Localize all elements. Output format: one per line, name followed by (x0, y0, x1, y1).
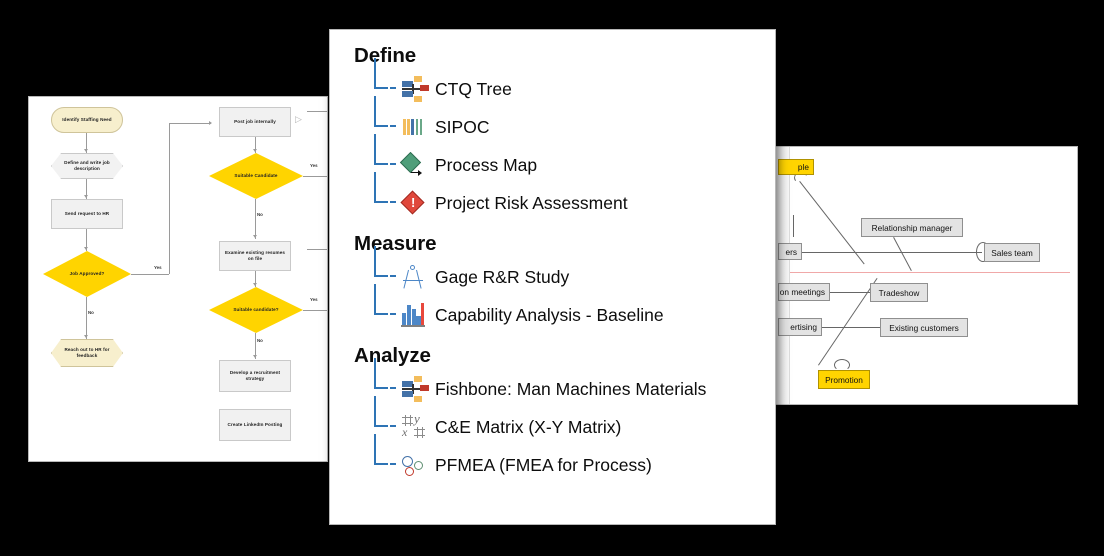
box-label: ertising (790, 322, 817, 332)
page-gutter (776, 147, 790, 404)
fishbone-icon (400, 376, 426, 402)
fishbone-connector-sales (802, 252, 982, 253)
edge-suitable1-yes-h (303, 176, 328, 177)
flowchart-node-define-job-description[interactable]: Define and write job description (51, 153, 123, 179)
arrowhead (84, 195, 88, 198)
flowchart-node-suitable-candidate-decision-2[interactable]: Suitable candidate? (209, 287, 303, 333)
tree-elbow (374, 358, 388, 389)
node-label: Define and write job description (54, 160, 120, 172)
box-label: ple (798, 162, 809, 172)
box-label: Promotion (825, 375, 863, 385)
arrowhead (253, 149, 257, 152)
box-label: ers (785, 247, 797, 257)
ctq-tree-icon (400, 76, 426, 102)
edge-label-no: No (88, 310, 94, 315)
edge-suitable1-yes-top (307, 111, 328, 112)
flowchart-node-examine-existing-resumes[interactable]: Examine existing resumes on file (219, 241, 291, 271)
arrowhead (253, 283, 257, 286)
group-title-measure: Measure (354, 232, 755, 256)
tree-elbow (374, 434, 388, 465)
tool-rows-define: CTQ Tree SIPOC (354, 70, 755, 222)
edge-suitable1-no (255, 199, 256, 239)
tree-elbow (374, 96, 388, 127)
fishbone-connector-existing-customers (822, 327, 880, 328)
flowchart-node-identify-staffing-need[interactable]: Identify Staffing Need (51, 107, 123, 133)
sipoc-bars-icon (400, 114, 426, 140)
edge-suitable2-yes-h (303, 310, 328, 311)
tree-elbow (374, 58, 388, 89)
fishbone-canvas[interactable]: ple Relationship manager ers Sales team … (776, 147, 1077, 404)
tool-item-ce-matrix[interactable]: y x C&E Matrix (X-Y Matrix) (374, 408, 755, 446)
tool-group-analyze: Analyze Fishbone: Man Machines Materia (354, 344, 755, 484)
node-label: Identify Staffing Need (62, 117, 111, 123)
tool-item-project-risk-assessment[interactable]: ! Project Risk Assessment (374, 184, 755, 222)
flowchart-node-reach-out-to-hr[interactable]: Reach out to HR for feedback (51, 339, 123, 367)
node-label: Job Approved? (70, 271, 105, 277)
edge-approved-yes-top (169, 123, 211, 124)
fishbone-document-panel[interactable]: ple Relationship manager ers Sales team … (775, 146, 1078, 405)
edge-label-yes: Yes (310, 297, 318, 302)
tool-rows-analyze: Fishbone: Man Machines Materials (354, 370, 755, 484)
tree-elbow (374, 246, 388, 277)
tree-dash (390, 425, 396, 427)
arrowhead (84, 247, 88, 250)
edge-approved-no (86, 297, 87, 339)
node-label: Create LinkedIn Posting (228, 422, 283, 428)
screenshot-stage: Identify Staffing Need Define and write … (0, 0, 1104, 556)
process-map-diamond-icon (400, 152, 426, 178)
tool-label: C&E Matrix (X-Y Matrix) (435, 417, 621, 438)
fishbone-box-sales-team[interactable]: Sales team (984, 243, 1040, 262)
box-label: Sales team (991, 248, 1033, 258)
flowchart-node-post-job-internally[interactable]: Post job internally (219, 107, 291, 137)
xy-matrix-icon: y x (400, 414, 426, 440)
node-label: Send request to HR (65, 211, 109, 217)
box-label: Relationship manager (872, 223, 953, 233)
fishbone-box-people[interactable]: ple (778, 159, 814, 175)
tool-label: SIPOC (435, 117, 489, 138)
node-label: Examine existing resumes on file (222, 250, 288, 262)
box-label: Existing customers (889, 323, 959, 333)
flowchart-node-create-linkedin-posting[interactable]: Create LinkedIn Posting (219, 409, 291, 441)
tool-item-gage-rr-study[interactable]: Gage R&R Study (374, 258, 755, 296)
fishbone-box-tradeshow[interactable]: Tradeshow (870, 283, 928, 302)
flowchart-document-panel[interactable]: Identify Staffing Need Define and write … (28, 96, 328, 462)
node-label: Develop a recruitment strategy (222, 370, 288, 382)
tree-dash (390, 313, 396, 315)
fishbone-rib-relationship-manager (893, 237, 912, 271)
fishbone-spine (790, 272, 1070, 273)
tool-rows-measure: Gage R&R Study Capability Analysis - Bas… (354, 258, 755, 334)
flowchart-node-job-approved-decision[interactable]: Job Approved? (43, 251, 131, 297)
fishbone-box-promotion[interactable]: Promotion (818, 370, 870, 389)
tree-dash (390, 163, 396, 165)
tool-item-process-map[interactable]: Process Map (374, 146, 755, 184)
arrowhead (84, 149, 88, 152)
fishbone-connector-tradeshow (830, 292, 870, 293)
tool-label: Gage R&R Study (435, 267, 569, 288)
pfmea-circles-icon (400, 452, 426, 478)
tree-dash (390, 275, 396, 277)
arrowhead (209, 121, 212, 125)
connector-ghost-icon: ▷ (295, 115, 302, 124)
fishbone-box-existing-customers[interactable]: Existing customers (880, 318, 968, 337)
histogram-icon (400, 302, 426, 328)
edge-label-yes: Yes (310, 163, 318, 168)
six-sigma-tools-panel[interactable]: Define CTQ Tree (329, 29, 776, 525)
fishbone-box-advertising[interactable]: ertising (778, 318, 822, 336)
tool-item-capability-analysis-baseline[interactable]: Capability Analysis - Baseline (374, 296, 755, 334)
box-label: on meetings (780, 287, 825, 297)
risk-warning-diamond-icon: ! (400, 190, 426, 216)
tree-dash (390, 201, 396, 203)
tree-dash (390, 87, 396, 89)
tree-dash (390, 387, 396, 389)
group-title-define: Define (354, 44, 755, 68)
flowchart-node-send-request-to-hr[interactable]: Send request to HR (51, 199, 123, 229)
tool-label: Project Risk Assessment (435, 193, 628, 214)
tree-dash (390, 463, 396, 465)
fishbone-box-partners[interactable]: ers (778, 243, 802, 260)
tool-label: Fishbone: Man Machines Materials (435, 379, 706, 400)
fishbone-box-association-meetings[interactable]: on meetings (778, 283, 830, 301)
tree-elbow (374, 172, 388, 203)
tool-group-define: Define CTQ Tree (354, 44, 755, 222)
tree-elbow (374, 134, 388, 165)
tool-group-measure: Measure Gage R&R Study (354, 232, 755, 334)
tree-elbow (374, 396, 388, 427)
caliper-icon (400, 264, 426, 290)
tree-dash (390, 125, 396, 127)
box-label: Tradeshow (879, 288, 920, 298)
group-title-analyze: Analyze (354, 344, 755, 368)
fishbone-box-relationship-manager[interactable]: Relationship manager (861, 218, 963, 237)
edge-approved-yes-v (169, 123, 170, 274)
node-label: Post job internally (234, 119, 276, 125)
arrowhead (253, 235, 257, 238)
tool-label: Capability Analysis - Baseline (435, 305, 664, 326)
fishbone-bone-tick (793, 215, 794, 237)
arrowhead (84, 335, 88, 338)
tool-item-sipoc[interactable]: SIPOC (374, 108, 755, 146)
arrowhead (253, 355, 257, 358)
flowchart-node-develop-recruitment-strategy[interactable]: Develop a recruitment strategy (219, 360, 291, 392)
node-label: Suitable Candidate (234, 173, 277, 179)
tool-item-fishbone[interactable]: Fishbone: Man Machines Materials (374, 370, 755, 408)
edge-label-yes: Yes (154, 265, 162, 270)
tool-label: Process Map (435, 155, 537, 176)
flowchart-canvas[interactable]: Identify Staffing Need Define and write … (29, 97, 327, 461)
edge-label-no: No (257, 338, 263, 343)
tool-item-ctq-tree[interactable]: CTQ Tree (374, 70, 755, 108)
edge-approved-yes-h (131, 274, 169, 275)
edge-label-no: No (257, 212, 263, 217)
node-label: Reach out to HR for feedback (54, 347, 120, 359)
tool-label: CTQ Tree (435, 79, 512, 100)
tree-elbow (374, 284, 388, 315)
node-label: Suitable candidate? (233, 307, 278, 313)
tool-item-pfmea[interactable]: PFMEA (FMEA for Process) (374, 446, 755, 484)
tool-label: PFMEA (FMEA for Process) (435, 455, 652, 476)
edge-suitable2-yes-top (307, 249, 328, 250)
flowchart-node-suitable-candidate-decision-1[interactable]: Suitable Candidate (209, 153, 303, 199)
